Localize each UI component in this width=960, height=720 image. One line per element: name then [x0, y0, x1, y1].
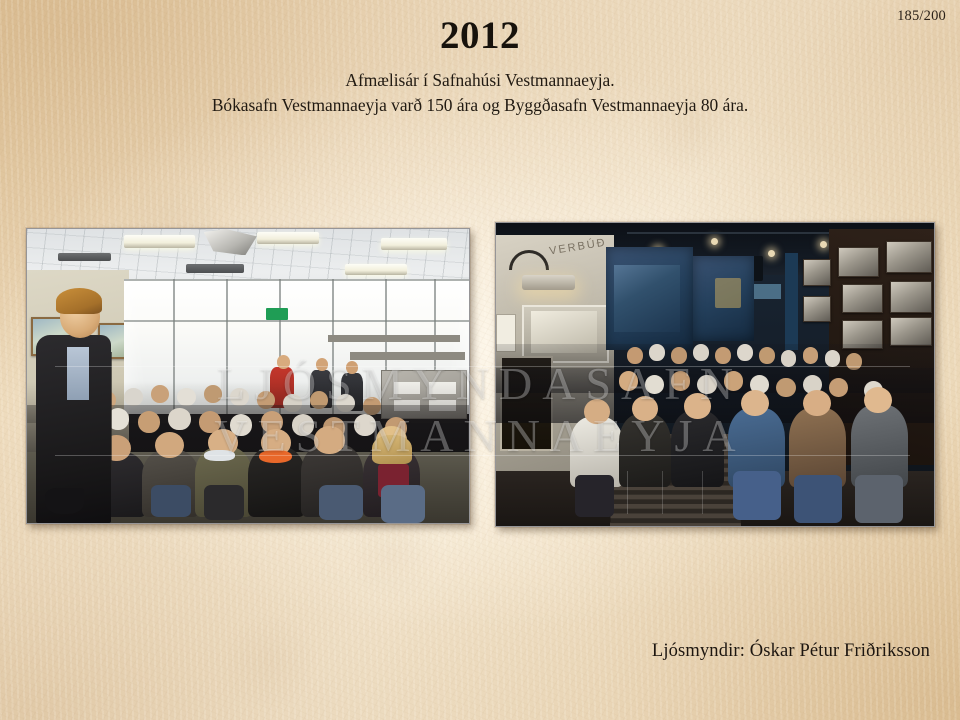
chair-leg — [627, 471, 628, 513]
ceiling-lamp-dark — [58, 253, 111, 262]
ceiling-lamp — [124, 235, 195, 248]
person-head — [846, 353, 862, 369]
person-head — [155, 432, 184, 458]
person-head — [168, 408, 190, 430]
person-head — [584, 399, 610, 424]
wall-photo — [803, 296, 831, 322]
ceiling-lamp — [381, 238, 447, 250]
person-head — [715, 347, 731, 363]
jeans — [151, 485, 191, 517]
photo-right[interactable]: VERBÚÐ — [495, 222, 935, 527]
person-head — [693, 344, 709, 360]
window-mullion — [124, 320, 469, 322]
shelf-rail — [328, 335, 461, 342]
person-head — [619, 371, 638, 390]
person-head — [671, 347, 687, 363]
track-light — [768, 250, 775, 257]
window-mullion — [124, 279, 469, 281]
exhibit-screen — [754, 284, 780, 299]
person-head — [684, 393, 711, 419]
speaker-shoe — [45, 488, 85, 514]
wall-photo — [842, 284, 883, 313]
wall-photo — [838, 247, 879, 276]
subtitle-line-1: Afmælisár í Safnahúsi Vestmannaeyja. — [0, 68, 960, 93]
speaker-shirt — [67, 347, 89, 400]
person-head — [864, 387, 892, 414]
person-torso — [671, 411, 724, 487]
person-head — [645, 375, 664, 394]
wall-lamp-shade — [522, 275, 575, 290]
person-head — [124, 388, 143, 406]
person-head — [724, 371, 743, 390]
person-head — [776, 378, 795, 397]
person-head — [803, 347, 819, 363]
person-head — [697, 375, 716, 394]
person-head — [781, 350, 797, 366]
wall-photo — [886, 241, 932, 273]
orange-scarf — [259, 450, 292, 463]
slide-canvas: 185/200 2012 Afmælisár í Safnahúsi Vestm… — [0, 0, 960, 720]
mic-stand — [111, 352, 112, 470]
scarf — [204, 450, 235, 462]
jeans — [794, 475, 842, 523]
person-head — [649, 344, 665, 360]
person-head — [803, 390, 831, 417]
person-head — [177, 388, 196, 406]
ceiling-lamp — [257, 232, 319, 244]
wall-photo — [803, 259, 831, 285]
person-head — [204, 385, 223, 403]
person-head — [759, 347, 775, 363]
photo-left-scene — [27, 229, 469, 523]
exhibit-mural — [614, 265, 680, 332]
ceiling-lamp-dark — [186, 264, 243, 273]
person-head — [671, 371, 690, 390]
person-head — [151, 385, 170, 403]
page-title: 2012 — [0, 16, 960, 55]
person-head — [277, 355, 290, 369]
photo-credit: Ljósmyndir: Óskar Pétur Friðriksson — [652, 641, 930, 662]
person-head — [825, 350, 841, 366]
person-head — [632, 396, 658, 421]
exhibit-lamp-glow — [715, 278, 741, 308]
jeans — [381, 485, 425, 523]
photo-left[interactable] — [26, 228, 470, 524]
wall-photo — [890, 281, 931, 313]
chair-leg — [662, 471, 663, 513]
shelf-rail — [350, 352, 465, 359]
track-light — [711, 238, 718, 245]
trousers — [204, 485, 244, 520]
person-head — [292, 414, 314, 436]
jeans — [733, 471, 781, 519]
person-head — [737, 344, 753, 360]
person-head — [354, 414, 376, 436]
light-track-rail — [627, 232, 828, 234]
person-head — [316, 358, 328, 371]
person-head — [314, 426, 345, 454]
photo-right-scene: VERBÚÐ — [496, 223, 934, 526]
ceiling-lamp — [345, 264, 407, 274]
exit-sign-icon — [266, 308, 288, 320]
person-head — [829, 378, 848, 397]
jeans — [319, 485, 363, 520]
speaker-hair — [56, 288, 102, 314]
subtitle-line-2: Bókasafn Vestmannaeyja varð 150 ára og B… — [0, 93, 960, 118]
blonde-hair — [372, 435, 412, 464]
subtitle-block: Afmælisár í Safnahúsi Vestmannaeyja. Bók… — [0, 68, 960, 117]
person-head — [230, 388, 249, 406]
person-head — [138, 411, 160, 433]
wall-photo — [890, 317, 931, 346]
person-head — [627, 347, 643, 363]
chair-leg — [702, 471, 703, 513]
trousers — [855, 475, 903, 523]
trousers — [575, 475, 614, 517]
wall-divider — [785, 253, 798, 350]
